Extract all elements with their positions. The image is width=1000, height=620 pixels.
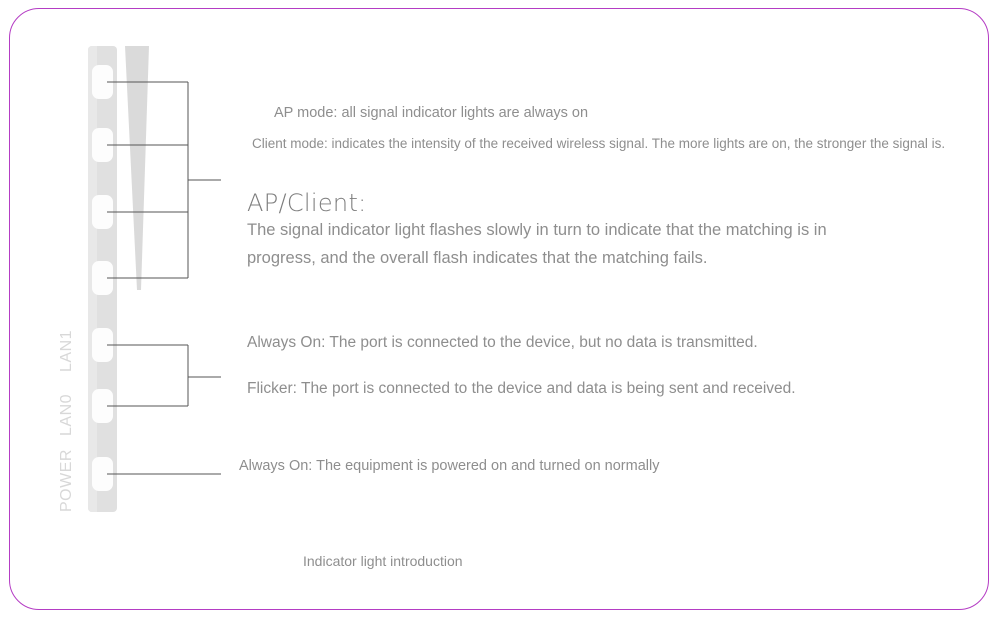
annotation-power-always-on: Always On: The equipment is powered on a… xyxy=(239,458,659,474)
annotation-apclient-heading: AP/Client: xyxy=(247,189,367,217)
signal-led-4 xyxy=(92,261,113,295)
annotation-lan-flicker: Flicker: The port is connected to the de… xyxy=(247,380,796,398)
signal-led-2 xyxy=(92,128,113,162)
indicator-light-diagram-page: LAN1 LAN0 POWER AP mode: all signal indi… xyxy=(0,0,1000,620)
figure-caption: Indicator light introduction xyxy=(303,553,463,569)
power-led xyxy=(92,457,113,491)
annotation-ap-mode: AP mode: all signal indicator lights are… xyxy=(274,105,588,121)
port-label-lan1: LAN1 xyxy=(58,330,76,372)
annotation-client-mode: Client mode: indicates the intensity of … xyxy=(252,136,945,151)
port-label-power: POWER xyxy=(58,449,76,512)
lan0-led xyxy=(92,389,113,423)
annotation-apclient-body: The signal indicator light flashes slowl… xyxy=(247,216,867,272)
device-shadow-wedge xyxy=(117,46,157,290)
signal-led-3 xyxy=(92,195,113,229)
lan1-led xyxy=(92,328,113,362)
annotation-lan-always-on: Always On: The port is connected to the … xyxy=(247,334,758,352)
signal-led-1 xyxy=(92,65,113,99)
port-label-lan0: LAN0 xyxy=(58,394,76,436)
